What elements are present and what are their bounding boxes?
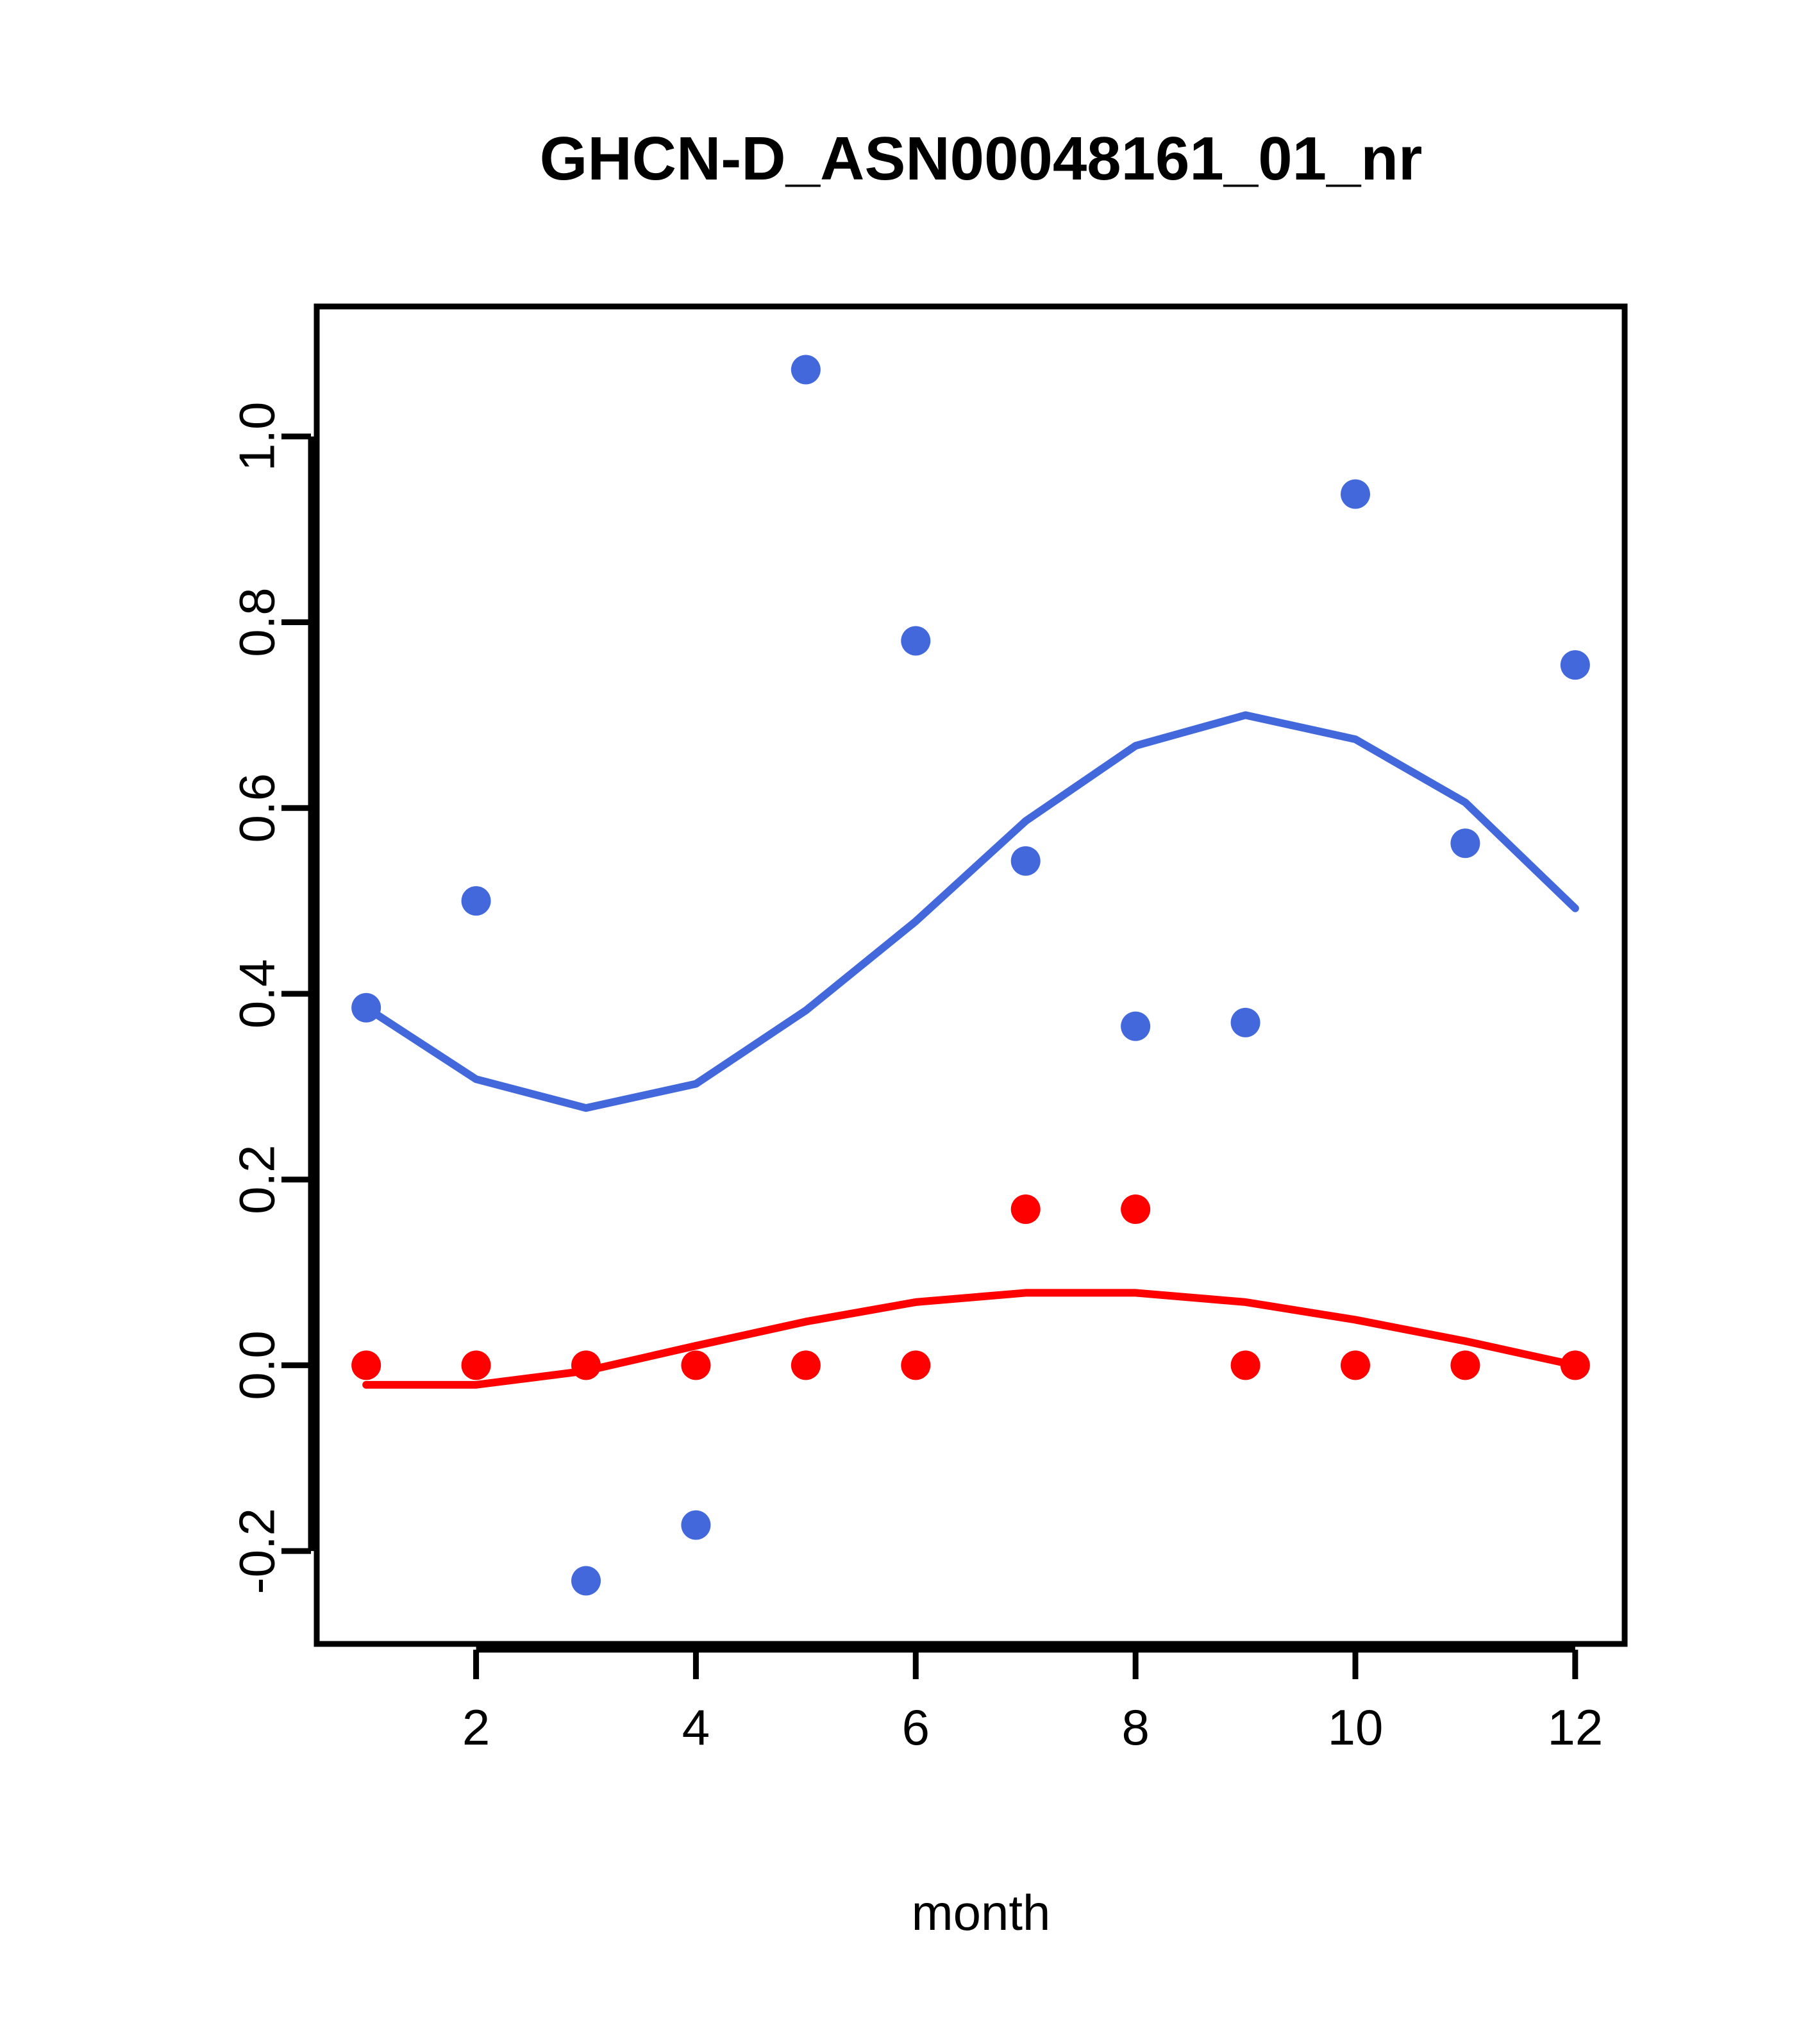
data-point-blue-points xyxy=(571,1566,601,1595)
y-axis-tick-label: -0.2 xyxy=(229,1508,285,1594)
chart-canvas: GHCN-D_ASN00048161_01_nr -0.20.00.20.40.… xyxy=(0,0,1817,2044)
y-axis-tick-label: 0.6 xyxy=(229,773,285,842)
data-point-blue-points xyxy=(1011,846,1041,876)
y-axis-tick-label: 1.0 xyxy=(229,402,285,471)
y-axis-tick-label: 0.2 xyxy=(229,1144,285,1214)
data-point-blue-points xyxy=(351,993,381,1023)
data-point-red-points xyxy=(901,1350,930,1380)
x-axis-tick-label: 2 xyxy=(462,1699,490,1755)
x-axis-title: month xyxy=(912,1884,1051,1941)
data-point-red-points xyxy=(1011,1194,1041,1224)
plot-root: GHCN-D_ASN00048161_01_nr -0.20.00.20.40.… xyxy=(0,0,1817,2044)
x-axis-tick-label: 8 xyxy=(1121,1699,1149,1755)
data-point-blue-points xyxy=(1450,828,1480,858)
data-point-blue-points xyxy=(1231,1008,1260,1037)
data-point-blue-points xyxy=(901,626,930,656)
data-point-blue-points xyxy=(681,1511,710,1540)
y-axis-tick-label: 0.8 xyxy=(229,587,285,657)
data-point-red-points xyxy=(791,1350,821,1380)
data-point-blue-points xyxy=(1561,650,1590,680)
data-point-red-points xyxy=(1231,1350,1260,1380)
data-point-blue-points xyxy=(1341,480,1370,509)
x-axis-tick-label: 4 xyxy=(682,1699,710,1755)
data-point-red-points xyxy=(1450,1350,1480,1380)
data-point-red-points xyxy=(351,1350,381,1380)
data-point-red-points xyxy=(571,1350,601,1380)
data-point-blue-points xyxy=(1121,1012,1150,1041)
data-point-red-points xyxy=(681,1350,710,1380)
data-point-red-points xyxy=(1121,1194,1150,1224)
data-point-red-points xyxy=(1341,1350,1370,1380)
y-axis-tick-label: 0.4 xyxy=(229,959,285,1028)
x-axis-tick-label: 12 xyxy=(1547,1699,1603,1755)
data-point-blue-points xyxy=(791,355,821,385)
data-point-red-points xyxy=(462,1350,491,1380)
chart-title: GHCN-D_ASN00048161_01_nr xyxy=(540,124,1423,193)
x-axis-tick-label: 6 xyxy=(902,1699,930,1755)
data-point-blue-points xyxy=(462,886,491,916)
y-axis-tick-label: 0.0 xyxy=(229,1330,285,1400)
data-point-red-points xyxy=(1561,1350,1590,1380)
x-axis-tick-label: 10 xyxy=(1328,1699,1384,1755)
